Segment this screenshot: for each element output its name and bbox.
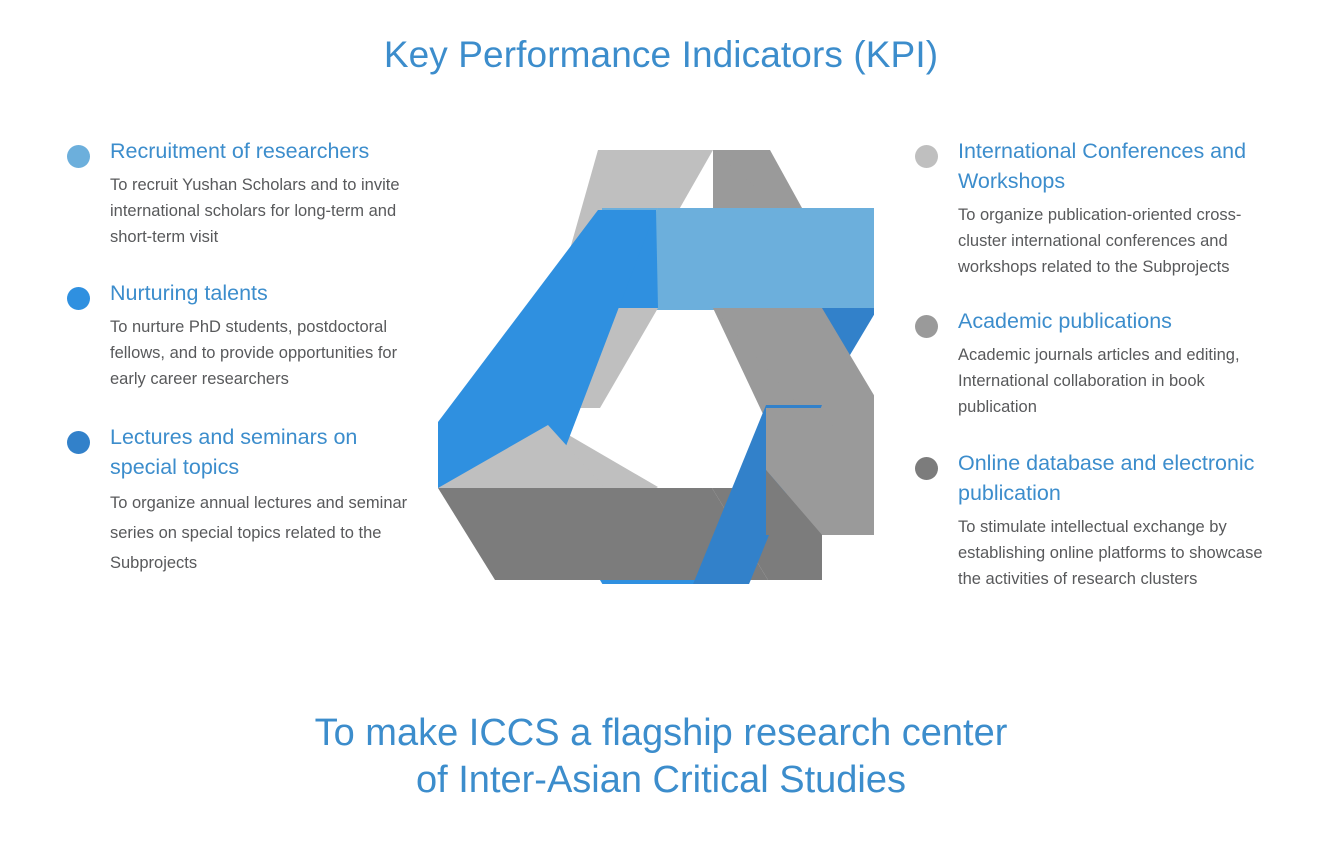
kpi-item-international-conferences: International Conferences and Workshops … (910, 136, 1270, 280)
kpi-item-nurturing-talents: Nurturing talents To nurture PhD student… (62, 278, 422, 392)
page-title: Key Performance Indicators (KPI) (0, 34, 1322, 76)
kpi-heading: International Conferences and Workshops (958, 136, 1270, 196)
tagline-line-2: of Inter-Asian Critical Studies (0, 757, 1322, 804)
kpi-heading: Academic publications (958, 306, 1270, 336)
bullet-icon (67, 287, 90, 310)
kpi-heading: Recruitment of researchers (110, 136, 422, 166)
kpi-item-online-database: Online database and electronic publicati… (910, 448, 1270, 592)
tagline-line-1: To make ICCS a flagship research center (0, 710, 1322, 757)
kpi-item-lectures-and-seminars: Lectures and seminars on special topics … (62, 422, 422, 578)
kpi-heading: Lectures and seminars on special topics (110, 422, 422, 482)
tagline: To make ICCS a flagship research center … (0, 710, 1322, 804)
kpi-description: To organize publication-oriented cross-c… (958, 202, 1284, 280)
kpi-description: To recruit Yushan Scholars and to invite… (110, 172, 422, 250)
kpi-heading: Nurturing talents (110, 278, 422, 308)
bullet-icon (67, 431, 90, 454)
bullet-icon (67, 145, 90, 168)
kpi-description: To organize annual lectures and seminar … (110, 488, 422, 578)
kpi-description: To stimulate intellectual exchange by es… (958, 514, 1278, 592)
kpi-heading: Online database and electronic publicati… (958, 448, 1270, 508)
bullet-icon (915, 457, 938, 480)
kpi-description: To nurture PhD students, postdoctoral fe… (110, 314, 422, 392)
bullet-icon (915, 315, 938, 338)
interlocking-hexagon-logo-icon (430, 140, 874, 584)
right-kpi-column: International Conferences and Workshops … (910, 136, 1270, 618)
bullet-icon (915, 145, 938, 168)
kpi-item-academic-publications: Academic publications Academic journals … (910, 306, 1270, 420)
kpi-description: Academic journals articles and editing, … (958, 342, 1278, 420)
kpi-item-recruitment-of-researchers: Recruitment of researchers To recruit Yu… (62, 136, 422, 250)
left-kpi-column: Recruitment of researchers To recruit Yu… (62, 136, 422, 604)
